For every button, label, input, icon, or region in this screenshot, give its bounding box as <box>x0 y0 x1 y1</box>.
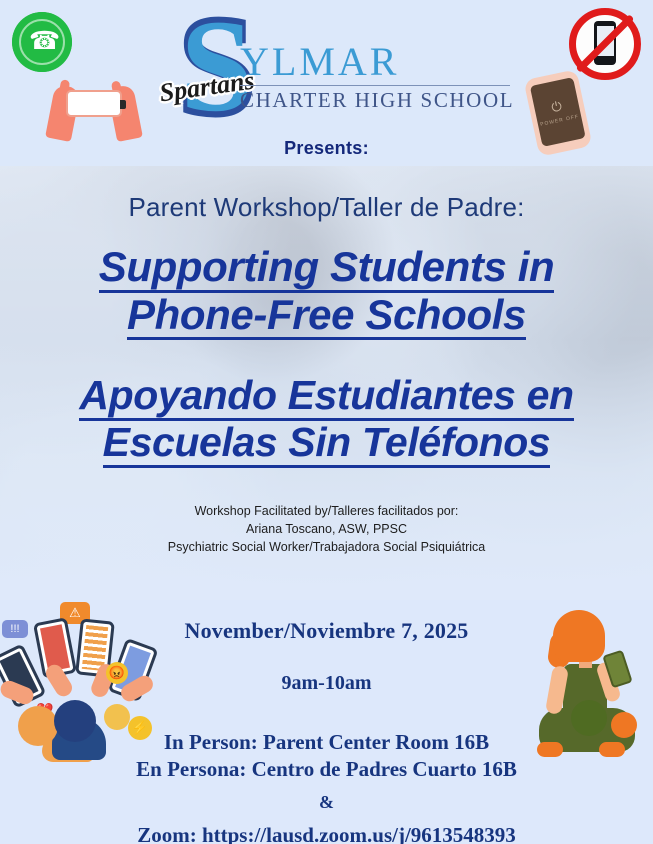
facilitator-line-3: Psychiatric Social Worker/Trabajadora So… <box>0 538 653 556</box>
phone-call-icon: ☎ <box>12 12 72 72</box>
main-content: Parent Workshop/Taller de Padre: Support… <box>0 166 653 556</box>
event-details: November/Noviembre 7, 2025 9am-10am In P… <box>0 618 653 844</box>
venue-english: In Person: Parent Center Room 16B <box>0 729 653 756</box>
wordmark-divider <box>240 85 510 86</box>
ampersand-separator: & <box>0 792 653 813</box>
flyer-page: ☎ S S Spartans YLMAR CHARTER HIGH SCHOOL… <box>0 0 653 844</box>
wordmark-main: YLMAR <box>240 42 510 82</box>
event-date: November/Noviembre 7, 2025 <box>0 618 653 644</box>
presents-label: Presents: <box>0 138 653 159</box>
workshop-subtitle: Parent Workshop/Taller de Padre: <box>0 192 653 223</box>
phone-handset-glyph: ☎ <box>29 28 55 55</box>
zoom-label: Zoom: <box>137 823 197 844</box>
headline-english: Supporting Students in Phone-Free School… <box>0 245 653 340</box>
event-time: 9am-10am <box>0 672 653 695</box>
details-band: !!! ⚠ 😡 ⚡ 💔 💔 <box>0 600 653 844</box>
facilitator-line-2: Ariana Toscano, ASW, PPSC <box>0 520 653 538</box>
header-band: ☎ S S Spartans YLMAR CHARTER HIGH SCHOOL… <box>0 0 653 166</box>
event-venue: In Person: Parent Center Room 16B En Per… <box>0 729 653 784</box>
facilitator-line-1: Workshop Facilitated by/Talleres facilit… <box>0 502 653 520</box>
wordmark-subtitle: CHARTER HIGH SCHOOL <box>240 88 510 112</box>
headline-spanish: Apoyando Estudiantes en Escuelas Sin Tel… <box>0 374 653 467</box>
school-wordmark: YLMAR CHARTER HIGH SCHOOL <box>240 42 510 112</box>
headline-en-line-2: Phone-Free Schools <box>127 293 526 341</box>
headline-en-line-1: Supporting Students in <box>99 245 554 293</box>
venue-spanish: En Persona: Centro de Padres Cuarto 16B <box>0 756 653 783</box>
phone-screen <box>66 90 122 117</box>
headline-es-line-1: Apoyando Estudiantes en <box>79 374 573 421</box>
zoom-meeting-link[interactable]: https://lausd.zoom.us/j/9613548393 <box>202 823 516 844</box>
headline-es-line-2: Escuelas Sin Teléfonos <box>103 421 551 468</box>
facilitator-block: Workshop Facilitated by/Talleres facilit… <box>0 502 653 556</box>
hands-holding-phone-icon <box>48 78 140 140</box>
no-phone-prohibition-icon <box>569 8 641 80</box>
zoom-row: Zoom: https://lausd.zoom.us/j/9613548393 <box>0 823 653 844</box>
